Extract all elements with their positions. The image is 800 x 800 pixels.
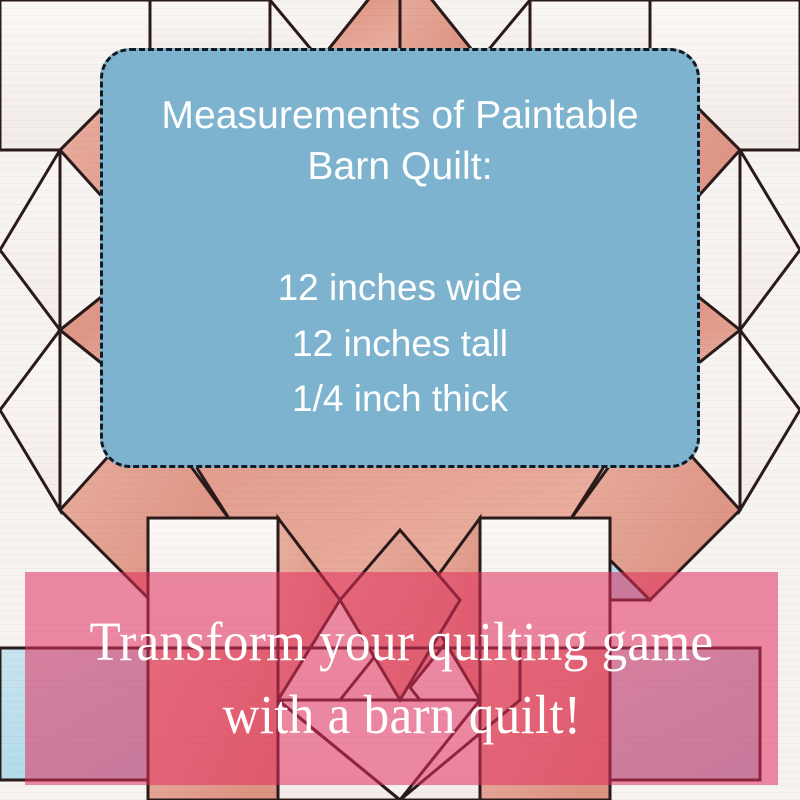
promo-banner: Transform your quilting game with a barn… (25, 572, 778, 785)
measurement-height: 12 inches tall (292, 316, 508, 372)
measurement-width: 12 inches wide (278, 260, 523, 316)
measurements-card: Measurements of Paintable Barn Quilt: 12… (100, 48, 700, 468)
measurements-heading: Measurements of Paintable Barn Quilt: (129, 91, 671, 192)
promo-line-1: Transform your quilting game (90, 606, 714, 679)
promo-line-2: with a barn quilt! (222, 679, 581, 752)
measurement-thickness: 1/4 inch thick (292, 371, 508, 427)
marketing-image-canvas: Measurements of Paintable Barn Quilt: 12… (0, 0, 800, 800)
measurements-list: 12 inches wide 12 inches tall 1/4 inch t… (129, 260, 671, 427)
